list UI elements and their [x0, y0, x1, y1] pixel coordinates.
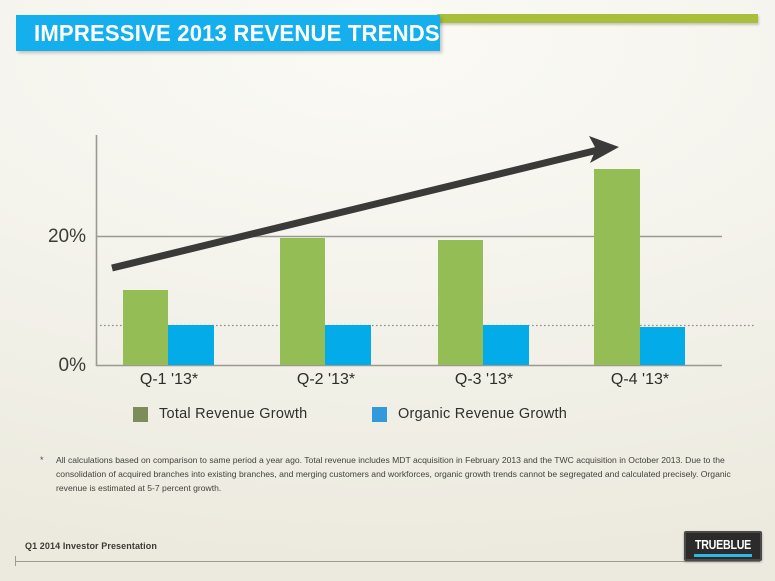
legend-item-total-revenue-growth: Total Revenue Growth: [133, 406, 307, 422]
trueblue-logo: TRUEBLUE: [684, 531, 762, 561]
category-label-q3: Q-3 '13*: [425, 371, 543, 389]
trueblue-logo-underline: [694, 554, 752, 557]
legend-swatch-organic: [372, 407, 387, 422]
trend-arrow-annotation: [112, 136, 619, 268]
footer-presentation-label: Q1 2014 Investor Presentation: [25, 541, 157, 551]
footnote: * All calculations based on comparison t…: [40, 454, 740, 496]
legend-label-total: Total Revenue Growth: [159, 406, 307, 422]
bar-total-q3: [438, 240, 483, 365]
trueblue-logo-text: TRUEBLUE: [693, 537, 754, 552]
category-label-q1: Q-1 '13*: [110, 371, 228, 389]
bar-organic-q2: [325, 325, 371, 365]
legend-item-organic-revenue-growth: Organic Revenue Growth: [372, 406, 567, 422]
legend-label-organic: Organic Revenue Growth: [398, 406, 567, 422]
bar-organic-q1: [168, 325, 214, 365]
category-label-q2: Q-2 '13*: [267, 371, 385, 389]
footnote-marker: *: [40, 454, 56, 496]
footer-divider: [15, 561, 760, 562]
chart-legend: Total Revenue Growth Organic Revenue Gro…: [0, 402, 775, 428]
revenue-bar-chart: 20% 0% Q-1 '13* Q-2 '13* Q-3 '13* Q-4 '1…: [0, 0, 775, 440]
y-tick-label-20: 20%: [30, 226, 86, 248]
slide-canvas: IMPRESSIVE 2013 REVENUE TRENDS: [0, 0, 775, 581]
bar-organic-q4: [640, 327, 685, 365]
bar-organic-q3: [483, 325, 529, 365]
legend-swatch-total: [133, 407, 148, 422]
footnote-text: All calculations based on comparison to …: [56, 454, 740, 496]
bar-total-q1: [123, 290, 168, 365]
y-tick-label-0: 0%: [30, 355, 86, 377]
bar-total-q4: [594, 169, 640, 365]
category-label-q4: Q-4 '13*: [581, 371, 699, 389]
bar-total-q2: [280, 238, 325, 365]
